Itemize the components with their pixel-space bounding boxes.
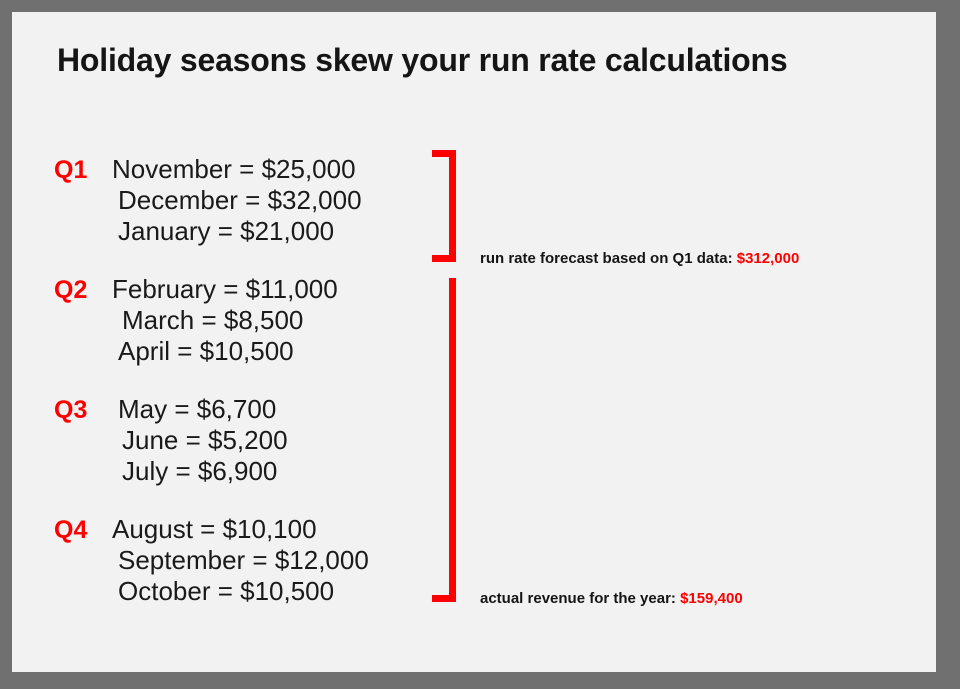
quarter-block-q1: Q1 November = $25,000 December = $32,000… [54,154,362,247]
annotation-actual-label: actual revenue for the year: [480,590,676,607]
month-line: November = $25,000 [112,154,356,185]
quarter-row: July = $6,900 [54,456,288,487]
annotation-forecast: run rate forecast based on Q1 data: $312… [480,250,799,267]
annotation-actual: actual revenue for the year: $159,400 [480,590,743,607]
bracket-q1-icon [432,150,456,262]
annotation-forecast-amount: $312,000 [737,250,800,267]
quarter-block-q3: Q3 May = $6,700 June = $5,200 July = $6,… [54,394,288,487]
quarter-row: Q2 February = $11,000 [54,274,338,305]
slide-frame: Holiday seasons skew your run rate calcu… [0,0,960,689]
quarter-block-q4: Q4 August = $10,100 September = $12,000 … [54,514,369,607]
quarter-block-q2: Q2 February = $11,000 March = $8,500 Apr… [54,274,338,367]
quarter-label-q1: Q1 [54,156,112,185]
page-title: Holiday seasons skew your run rate calcu… [57,42,787,79]
quarter-row: Q3 May = $6,700 [54,394,288,425]
quarter-row: March = $8,500 [54,305,338,336]
quarter-row: April = $10,500 [54,336,338,367]
annotation-forecast-label: run rate forecast based on Q1 data: [480,250,733,267]
month-line: March = $8,500 [112,305,303,336]
slide-canvas: Holiday seasons skew your run rate calcu… [12,12,936,672]
month-line: August = $10,100 [112,514,317,545]
annotation-actual-amount: $159,400 [680,590,743,607]
quarter-row: June = $5,200 [54,425,288,456]
month-line: January = $21,000 [112,216,334,247]
quarter-label-q3: Q3 [54,396,112,425]
quarter-label-q2: Q2 [54,276,112,305]
month-line: October = $10,500 [112,576,334,607]
quarter-row: January = $21,000 [54,216,362,247]
quarter-row: December = $32,000 [54,185,362,216]
month-line: June = $5,200 [112,425,288,456]
month-line: September = $12,000 [112,545,369,576]
month-line: July = $6,900 [112,456,277,487]
month-line: May = $6,700 [112,394,276,425]
month-line: April = $10,500 [112,336,294,367]
bracket-full-year-icon [432,278,456,602]
quarter-row: Q1 November = $25,000 [54,154,362,185]
quarter-row: September = $12,000 [54,545,369,576]
quarter-row: October = $10,500 [54,576,369,607]
quarter-label-q4: Q4 [54,516,112,545]
month-line: December = $32,000 [112,185,362,216]
month-line: February = $11,000 [112,274,338,305]
quarter-row: Q4 August = $10,100 [54,514,369,545]
